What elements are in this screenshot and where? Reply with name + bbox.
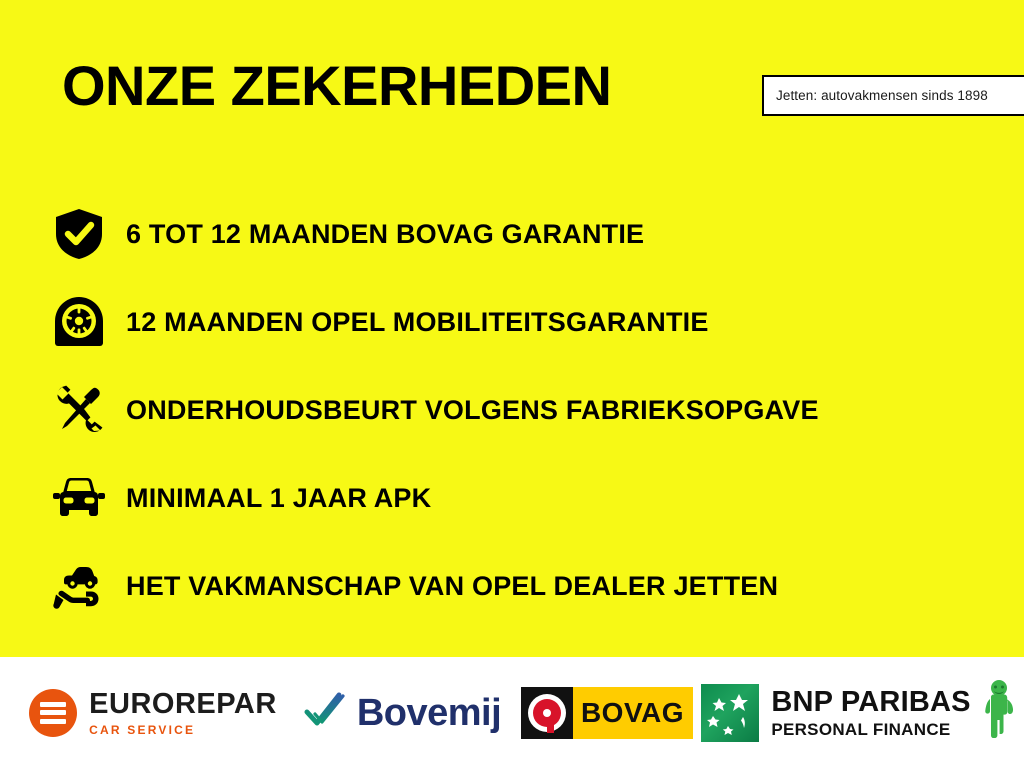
bnp-stars-icon: [701, 684, 759, 742]
promo-poster: ONZE ZEKERHEDEN Jetten: autovakmensen si…: [0, 0, 1024, 768]
benefit-row: HET VAKMANSCHAP VAN OPEL DEALER JETTEN: [52, 542, 972, 630]
eurorepar-e-mark-icon: [29, 689, 77, 737]
tagline-box: Jetten: autovakmensen sinds 1898: [762, 75, 1024, 116]
benefits-list: 6 TOT 12 MAANDEN BOVAG GARANTIE: [52, 190, 972, 630]
benefit-row: 6 TOT 12 MAANDEN BOVAG GARANTIE: [52, 190, 972, 278]
logo-bnp-paribas: BNP PARIBAS PERSONAL FINANCE: [692, 679, 1024, 746]
benefit-label: 12 MAANDEN OPEL MOBILITEITSGARANTIE: [126, 307, 709, 338]
page-title: ONZE ZEKERHEDEN: [62, 58, 611, 114]
benefit-label: ONDERHOUDSBEURT VOLGENS FABRIEKSOPGAVE: [126, 395, 819, 426]
tools-wrench-screwdriver-icon: [52, 383, 106, 437]
bovemij-name: Bovemij: [357, 694, 501, 732]
benefit-label: 6 TOT 12 MAANDEN BOVAG GARANTIE: [126, 219, 644, 250]
car-front-icon: [52, 471, 106, 525]
shield-check-icon: [52, 207, 106, 261]
benefit-row: 12 MAANDEN OPEL MOBILITEITSGARANTIE: [52, 278, 972, 366]
bnp-paribas-subtitle: PERSONAL FINANCE: [771, 721, 970, 738]
bovag-mark-icon: [521, 687, 573, 739]
eurorepar-name: EUROREPAR: [89, 690, 277, 719]
logo-bovag: BOVAG: [522, 687, 692, 739]
eurorepar-subtitle: CAR SERVICE: [89, 724, 277, 736]
bovemij-double-check-icon: [303, 690, 347, 735]
partner-logo-bar: EUROREPAR CAR SERVICE Bovemij: [0, 657, 1024, 768]
tagline-text: Jetten: autovakmensen sinds 1898: [764, 88, 988, 103]
bnp-mascot-icon: [981, 679, 1015, 746]
bovag-name: BOVAG: [581, 697, 684, 729]
benefit-row: ONDERHOUDSBEURT VOLGENS FABRIEKSOPGAVE: [52, 366, 972, 454]
bnp-paribas-name: BNP PARIBAS: [771, 688, 970, 717]
benefit-row: MINIMAAL 1 JAAR APK: [52, 454, 972, 542]
car-in-hand-icon: [52, 559, 106, 613]
benefit-label: MINIMAAL 1 JAAR APK: [126, 483, 431, 514]
logo-bovemij: Bovemij: [282, 690, 522, 735]
tire-wheel-icon: [52, 295, 106, 349]
logo-eurorepar: EUROREPAR CAR SERVICE: [0, 689, 282, 737]
benefit-label: HET VAKMANSCHAP VAN OPEL DEALER JETTEN: [126, 571, 778, 602]
bovag-name-panel: BOVAG: [573, 687, 693, 739]
